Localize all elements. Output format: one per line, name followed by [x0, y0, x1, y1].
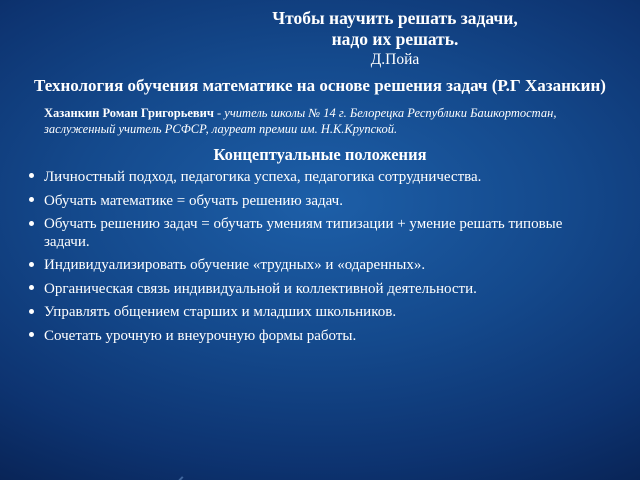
bullet-dot-icon [29, 285, 34, 290]
bullet-dot-icon [29, 262, 34, 267]
list-item: Обучать математике = обучать решению зад… [28, 193, 610, 211]
presentation-slide: Чтобы научить решать задачи, надо их реш… [0, 0, 640, 480]
author-description: Хазанкин Роман Григорьевич - учитель шко… [44, 106, 602, 137]
author-name: Хазанкин Роман Григорьевич [44, 106, 214, 120]
bullet-dot-icon [29, 197, 34, 202]
epigraph-line-1: Чтобы научить решать задачи, [272, 8, 517, 28]
epigraph-line-2: надо их решать. [332, 29, 459, 49]
list-item-text: Управлять общением старших и младших шко… [44, 304, 610, 322]
bullet-dot-icon [29, 221, 34, 226]
list-item: Сочетать урочную и внеурочную формы рабо… [28, 328, 610, 344]
list-item: Органическая связь индивидуальной и колл… [28, 281, 610, 299]
bullet-dot-icon [29, 309, 34, 314]
list-item-text: Индивидуализировать обучение «трудных» и… [44, 257, 610, 275]
epigraph: Чтобы научить решать задачи, надо их реш… [14, 8, 626, 49]
list-item-text: Обучать математике = обучать решению зад… [44, 193, 610, 211]
bullet-dot-icon [29, 173, 34, 178]
list-item-text: Сочетать урочную и внеурочную формы рабо… [44, 328, 610, 344]
list-item: Индивидуализировать обучение «трудных» и… [28, 257, 610, 275]
epigraph-author: Д.Пойа [14, 51, 626, 69]
slide-content: Чтобы научить решать задачи, надо их реш… [0, 0, 640, 344]
list-item-text: Личностный подход, педагогика успеха, пе… [44, 169, 610, 187]
bullet-dot-icon [29, 332, 34, 337]
bullet-list: Личностный подход, педагогика успеха, пе… [14, 169, 626, 344]
list-item-text: Обучать решению задач = обучать умениям … [44, 216, 610, 251]
list-item: Обучать решению задач = обучать умениям … [28, 216, 610, 251]
list-item: Личностный подход, педагогика успеха, пе… [28, 169, 610, 187]
list-item: Управлять общением старших и младших шко… [28, 304, 610, 322]
section-title: Концептуальные положения [14, 145, 626, 165]
slide-title: Технология обучения математике на основе… [24, 76, 616, 96]
list-item-text: Органическая связь индивидуальной и колл… [44, 281, 610, 299]
